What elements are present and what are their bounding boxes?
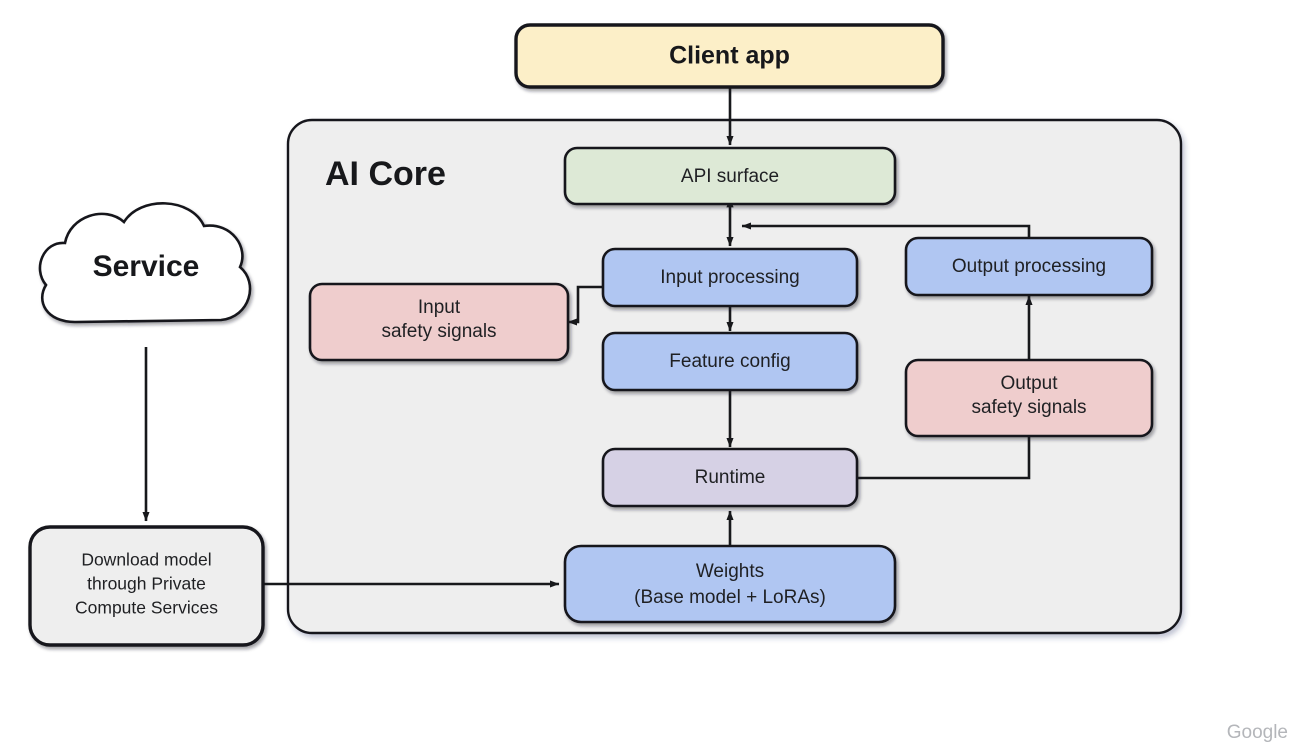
input-safety-line-1: Input: [418, 297, 461, 318]
client-app-label: Client app: [669, 42, 790, 70]
download-model-node[interactable]: Download model through Private Compute S…: [30, 527, 263, 645]
ai-core-title: AI Core: [325, 155, 446, 193]
download-model-line-1: Download model: [81, 550, 211, 570]
input-processing-label: Input processing: [660, 267, 799, 288]
input-processing-node[interactable]: Input processing: [603, 249, 857, 306]
output-safety-line-2: safety signals: [971, 397, 1086, 418]
service-cloud-node[interactable]: Service: [40, 203, 250, 322]
architecture-diagram: AI Core: [0, 0, 1304, 756]
api-surface-node[interactable]: API surface: [565, 148, 895, 204]
input-safety-line-2: safety signals: [381, 321, 496, 342]
service-cloud-label: Service: [93, 250, 200, 283]
weights-line-2: (Base model + LoRAs): [634, 587, 826, 608]
feature-config-label: Feature config: [669, 351, 790, 372]
weights-node[interactable]: Weights (Base model + LoRAs): [565, 546, 895, 622]
output-safety-line-1: Output: [1000, 373, 1058, 394]
api-surface-label: API surface: [681, 166, 779, 187]
output-processing-node[interactable]: Output processing: [906, 238, 1152, 295]
download-model-line-3: Compute Services: [75, 598, 218, 618]
google-watermark: Google: [1227, 722, 1288, 743]
weights-line-1: Weights: [696, 561, 764, 582]
runtime-label: Runtime: [695, 467, 766, 488]
download-model-line-2: through Private: [87, 574, 206, 594]
feature-config-node[interactable]: Feature config: [603, 333, 857, 390]
output-processing-label: Output processing: [952, 256, 1106, 277]
client-app-node[interactable]: Client app: [516, 25, 943, 87]
runtime-node[interactable]: Runtime: [603, 449, 857, 506]
output-safety-signals-node[interactable]: Output safety signals: [906, 360, 1152, 436]
input-safety-signals-node[interactable]: Input safety signals: [310, 284, 568, 360]
